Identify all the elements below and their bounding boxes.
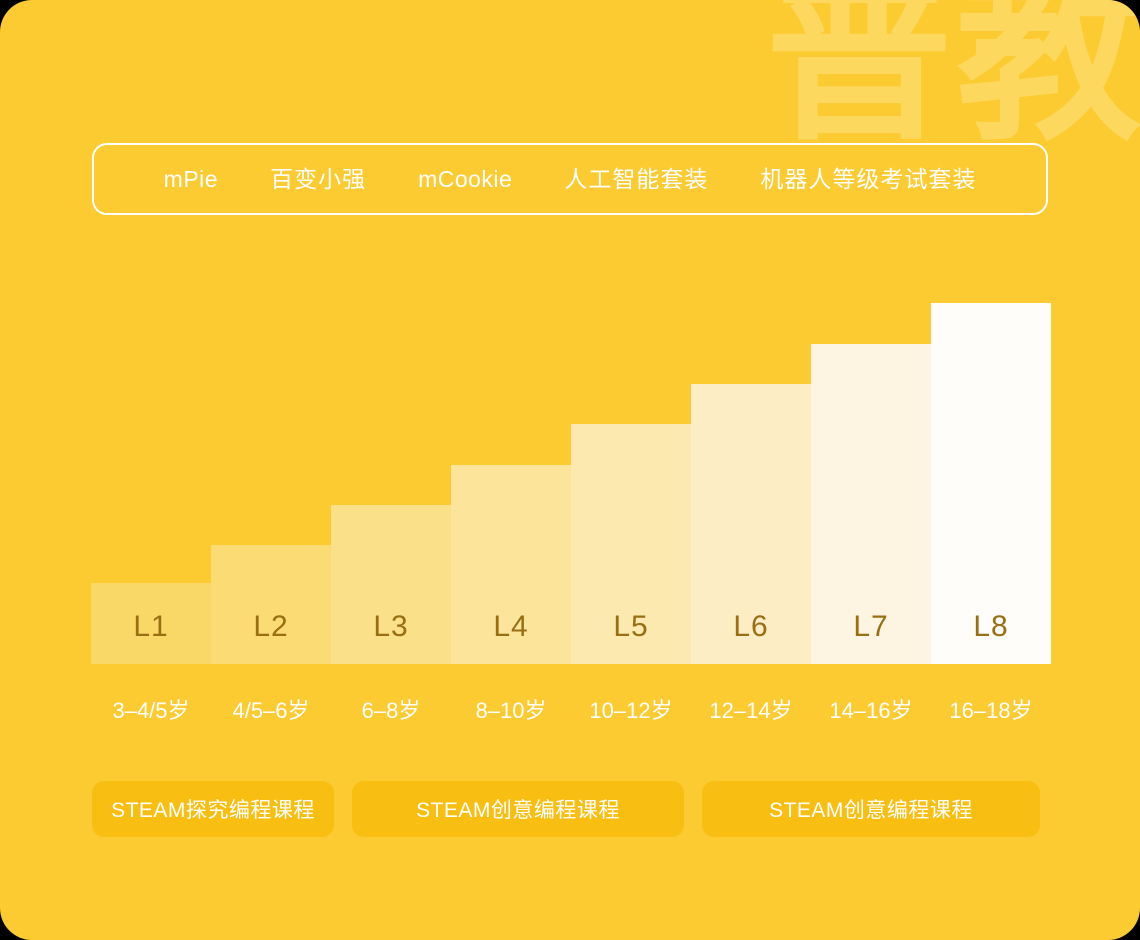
level-bar-chart: L1 L2 L3 L4 L5 L6 L7 L8 (91, 295, 1051, 664)
age-label-l3: 6–8岁 (331, 700, 451, 722)
nav-item-mcookie[interactable]: mCookie (392, 168, 538, 191)
bar-label-l1: L1 (133, 612, 168, 664)
nav-item-ai-kit[interactable]: 人工智能套装 (538, 168, 734, 191)
bar-l4: L4 (451, 465, 571, 664)
course-level-card: 普教 mPie 百变小强 mCookie 人工智能套装 机器人等级考试套装 L1… (0, 0, 1140, 940)
bar-label-l6: L6 (733, 612, 768, 664)
nav-item-mpie[interactable]: mPie (138, 168, 244, 191)
bar-l1: L1 (91, 583, 211, 664)
bar-label-l4: L4 (493, 612, 528, 664)
bar-l6: L6 (691, 384, 811, 664)
age-label-l1: 3–4/5岁 (91, 700, 211, 722)
age-label-l6: 12–14岁 (691, 700, 811, 722)
course-button-explore[interactable]: STEAM探究编程课程 (92, 781, 334, 837)
nav-item-robot-exam-kit[interactable]: 机器人等级考试套装 (734, 168, 1002, 191)
course-track-list: STEAM探究编程课程 STEAM创意编程课程 STEAM创意编程课程 (92, 781, 1050, 837)
bar-l8: L8 (931, 303, 1051, 664)
product-nav-bar: mPie 百变小强 mCookie 人工智能套装 机器人等级考试套装 (92, 143, 1048, 215)
course-button-creative-2[interactable]: STEAM创意编程课程 (702, 781, 1040, 837)
bar-l5: L5 (571, 424, 691, 664)
bar-label-l8: L8 (973, 612, 1008, 664)
age-label-l5: 10–12岁 (571, 700, 691, 722)
age-range-axis: 3–4/5岁 4/5–6岁 6–8岁 8–10岁 10–12岁 12–14岁 1… (91, 700, 1051, 722)
watermark-text: 普教 (766, 0, 1140, 152)
age-label-l7: 14–16岁 (811, 700, 931, 722)
bar-label-l3: L3 (373, 612, 408, 664)
nav-item-baibianxiaoqiang[interactable]: 百变小强 (244, 168, 392, 191)
age-label-l8: 16–18岁 (931, 700, 1051, 722)
age-label-l2: 4/5–6岁 (211, 700, 331, 722)
bar-label-l5: L5 (613, 612, 648, 664)
bar-label-l2: L2 (253, 612, 288, 664)
bar-l3: L3 (331, 505, 451, 664)
bar-l2: L2 (211, 545, 331, 664)
bar-label-l7: L7 (853, 612, 888, 664)
course-button-creative-1[interactable]: STEAM创意编程课程 (352, 781, 684, 837)
bar-l7: L7 (811, 344, 931, 664)
age-label-l4: 8–10岁 (451, 700, 571, 722)
